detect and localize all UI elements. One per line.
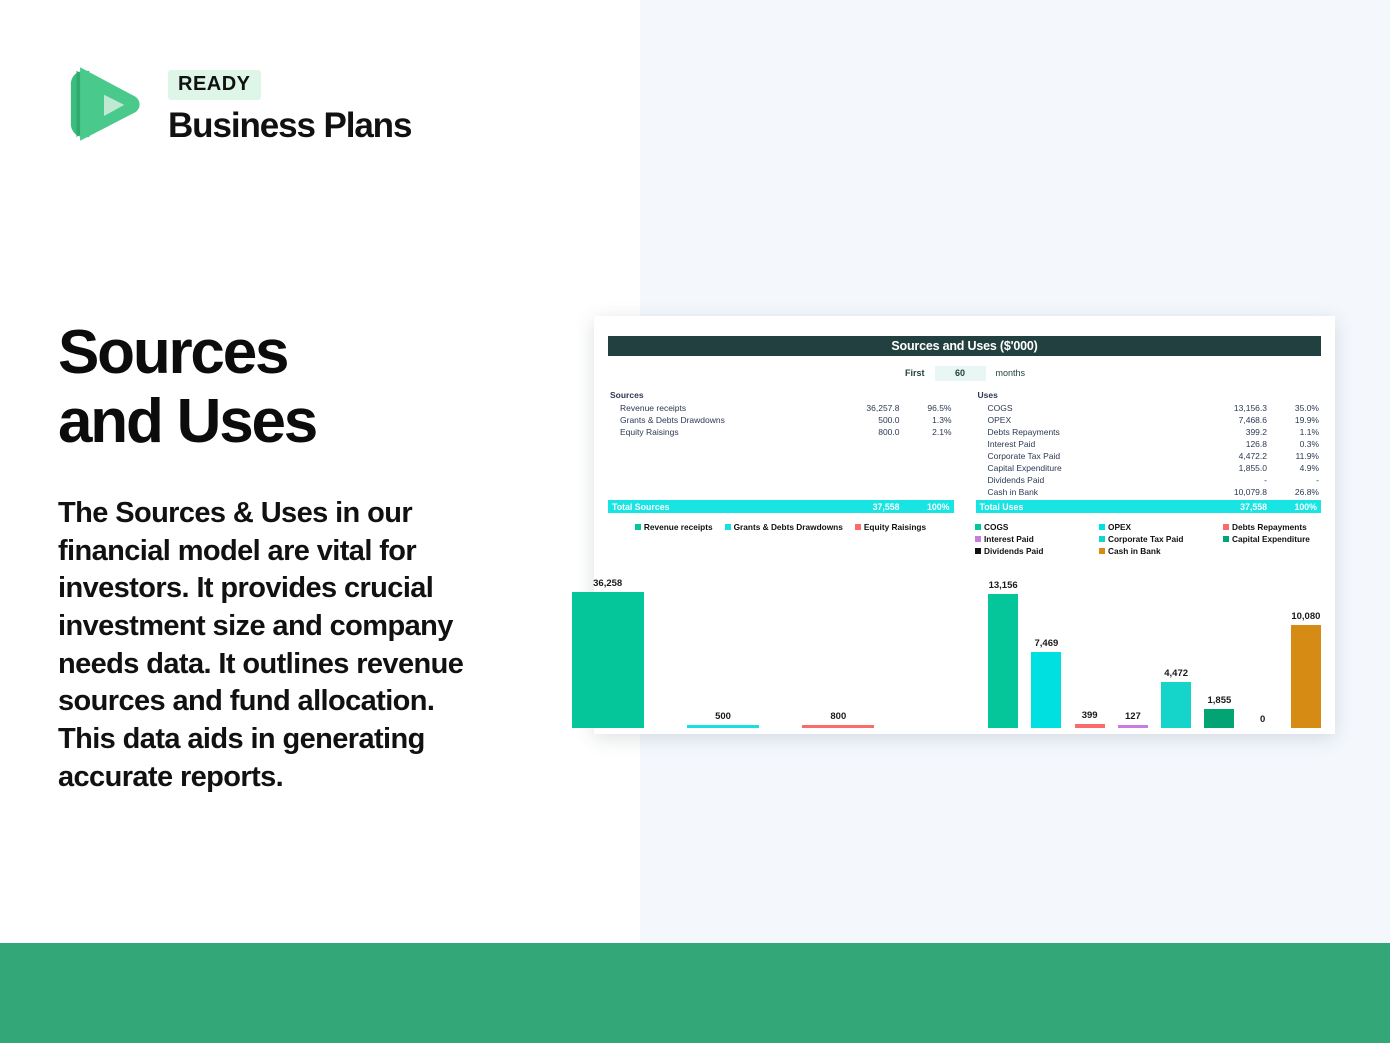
legend-item[interactable]: Debts Repayments [1223,522,1321,532]
row-percent: 26.8% [1267,487,1321,497]
chart-bar[interactable] [687,725,759,728]
chart-bar-value-label: 4,472 [1136,668,1216,679]
legend-label: Interest Paid [984,534,1034,544]
chart-bar-value-label: 13,156 [963,580,1043,591]
tables-row: Sources Revenue receipts 36,257.8 96.5% … [608,390,1321,513]
sources-bar-chart: 36,258500800 [608,564,954,734]
table-row: Interest Paid 126.8 0.3% [976,438,1322,450]
table-row: Corporate Tax Paid 4,472.2 11.9% [976,450,1322,462]
legend-item[interactable]: Corporate Tax Paid [1099,534,1223,544]
row-label: Interest Paid [976,439,1190,449]
row-value: 800.0 [822,427,900,437]
table-row-empty [608,450,954,462]
table-row: Dividends Paid - - [976,474,1322,486]
page-title: Sources and Uses [58,318,538,457]
legend-label: Corporate Tax Paid [1108,534,1183,544]
page-description: The Sources & Uses in our financial mode… [58,495,498,797]
uses-bar-chart: 13,1567,4693991274,4721,855010,080 [976,564,1322,734]
chart-bar-value-label: 500 [683,711,763,722]
legend-label: OPEX [1108,522,1131,532]
legend-item[interactable]: Capital Expenditure [1223,534,1321,544]
play-triangle-logo-icon [58,58,150,150]
row-value: 1,855.0 [1189,463,1267,473]
row-value: 126.8 [1189,439,1267,449]
uses-table: Uses COGS 13,156.3 35.0% OPEX 7,468.6 19… [976,390,1322,513]
table-row: Grants & Debts Drawdowns 500.0 1.3% [608,414,954,426]
row-value: 500.0 [822,415,900,425]
uses-chart-legend: COGSOPEXDebts RepaymentsInterest PaidCor… [975,522,1321,556]
row-percent: 4.9% [1267,463,1321,473]
row-value: 13,156.3 [1189,403,1267,413]
table-row: Debts Repayments 399.2 1.1% [976,426,1322,438]
row-label: Equity Raisings [608,427,822,437]
legend-swatch-icon [635,524,641,530]
sources-table-header: Sources [608,390,954,402]
legend-label: COGS [984,522,1008,532]
brand-logo-text: READY Business Plans [168,58,411,146]
sheet-title: Sources and Uses ($'000) [608,336,1321,356]
table-row: Equity Raisings 800.0 2.1% [608,426,954,438]
row-value: 10,079.8 [1189,487,1267,497]
table-row-empty [608,486,954,498]
legend-item[interactable]: Cash in Bank [1099,546,1223,556]
legend-swatch-icon [855,524,861,530]
row-value: 7,468.6 [1189,415,1267,425]
legend-label: Dividends Paid [984,546,1043,556]
row-percent: 96.5% [900,403,954,413]
footer-green-band [0,943,1390,1043]
row-percent: 19.9% [1267,415,1321,425]
period-prefix-label: First [905,368,925,378]
row-label: OPEX [976,415,1190,425]
total-label: Total Uses [976,502,1190,512]
legend-item[interactable]: Revenue receipts [635,522,713,532]
row-percent: 1.1% [1267,427,1321,437]
legend-swatch-icon [975,548,981,554]
row-label: Grants & Debts Drawdowns [608,415,822,425]
table-row-empty [608,438,954,450]
legend-label: Revenue receipts [644,522,713,532]
table-row-empty [608,462,954,474]
legend-swatch-icon [725,524,731,530]
row-value: 4,472.2 [1189,451,1267,461]
total-percent: 100% [900,502,954,512]
chart-bar[interactable] [572,592,644,728]
slide-root: READY Business Plans Sources and Uses Th… [0,0,1390,1043]
legend-item[interactable]: Equity Raisings [855,522,926,532]
chart-bar-value-label: 800 [798,711,878,722]
period-unit-label: months [996,368,1026,378]
legend-swatch-icon [975,536,981,542]
chart-bar-value-label: 1,855 [1179,695,1259,706]
row-label: Cash in Bank [976,487,1190,497]
row-label: Revenue receipts [608,403,822,413]
table-row: Revenue receipts 36,257.8 96.5% [608,402,954,414]
total-percent: 100% [1267,502,1321,512]
uses-table-header: Uses [976,390,1322,402]
row-value: 399.2 [1189,427,1267,437]
legend-swatch-icon [1099,536,1105,542]
legend-swatch-icon [1223,524,1229,530]
row-value: - [1189,475,1267,485]
legend-item[interactable]: Dividends Paid [975,546,1099,556]
chart-bar[interactable] [1118,725,1148,728]
legend-swatch-icon [975,524,981,530]
legend-swatch-icon [1223,536,1229,542]
row-label: Capital Expenditure [976,463,1190,473]
brand-badge: READY [168,70,261,100]
brand-name: Business Plans [168,106,411,146]
row-percent: 0.3% [1267,439,1321,449]
charts-row: 36,258500800 13,1567,4693991274,4721,855… [608,564,1321,734]
row-percent: 1.3% [900,415,954,425]
spreadsheet: Sources and Uses ($'000) First 60 months… [608,336,1321,720]
legend-label: Cash in Bank [1108,546,1161,556]
table-row: Cash in Bank 10,079.8 26.8% [976,486,1322,498]
legend-item[interactable]: COGS [975,522,1099,532]
total-value: 37,558 [1189,502,1267,512]
row-label: COGS [976,403,1190,413]
period-selector-row: First 60 months [608,363,1321,383]
spreadsheet-card: Sources and Uses ($'000) First 60 months… [594,316,1335,734]
chart-bar-value-label: 36,258 [568,578,648,589]
chart-bar-value-label: 10,080 [1266,611,1346,622]
total-label: Total Sources [608,502,822,512]
legend-label: Capital Expenditure [1232,534,1310,544]
legend-label: Equity Raisings [864,522,926,532]
legends-row: Revenue receiptsGrants & Debts Drawdowns… [608,522,1321,556]
legend-label: Grants & Debts Drawdowns [734,522,843,532]
chart-bar[interactable] [988,594,1018,728]
row-label: Corporate Tax Paid [976,451,1190,461]
brand-logo[interactable]: READY Business Plans [58,58,411,150]
table-row: Capital Expenditure 1,855.0 4.9% [976,462,1322,474]
chart-bar[interactable] [1075,724,1105,728]
sources-rows: Revenue receipts 36,257.8 96.5% Grants &… [608,402,954,498]
legend-swatch-icon [1099,548,1105,554]
row-label: Debts Repayments [976,427,1190,437]
row-percent: 35.0% [1267,403,1321,413]
sources-total-row: Total Sources 37,558 100% [608,500,954,513]
row-percent: 11.9% [1267,451,1321,461]
table-row: COGS 13,156.3 35.0% [976,402,1322,414]
sources-table: Sources Revenue receipts 36,257.8 96.5% … [608,390,954,513]
chart-bar[interactable] [1291,625,1321,728]
uses-rows: COGS 13,156.3 35.0% OPEX 7,468.6 19.9% D… [976,402,1322,498]
legend-item[interactable]: Interest Paid [975,534,1099,544]
row-value: 36,257.8 [822,403,900,413]
row-percent: 2.1% [900,427,954,437]
sources-chart-legend: Revenue receiptsGrants & Debts Drawdowns… [608,522,953,556]
table-row-empty [608,474,954,486]
uses-total-row: Total Uses 37,558 100% [976,500,1322,513]
legend-item[interactable]: Grants & Debts Drawdowns [725,522,843,532]
row-percent: - [1267,475,1321,485]
total-value: 37,558 [822,502,900,512]
legend-swatch-icon [1099,524,1105,530]
table-row: OPEX 7,468.6 19.9% [976,414,1322,426]
chart-bar-value-label: 7,469 [1006,638,1086,649]
legend-label: Debts Repayments [1232,522,1307,532]
row-label: Dividends Paid [976,475,1190,485]
legend-item[interactable]: OPEX [1099,522,1223,532]
chart-bar[interactable] [802,725,874,728]
period-months-input[interactable]: 60 [935,366,986,381]
